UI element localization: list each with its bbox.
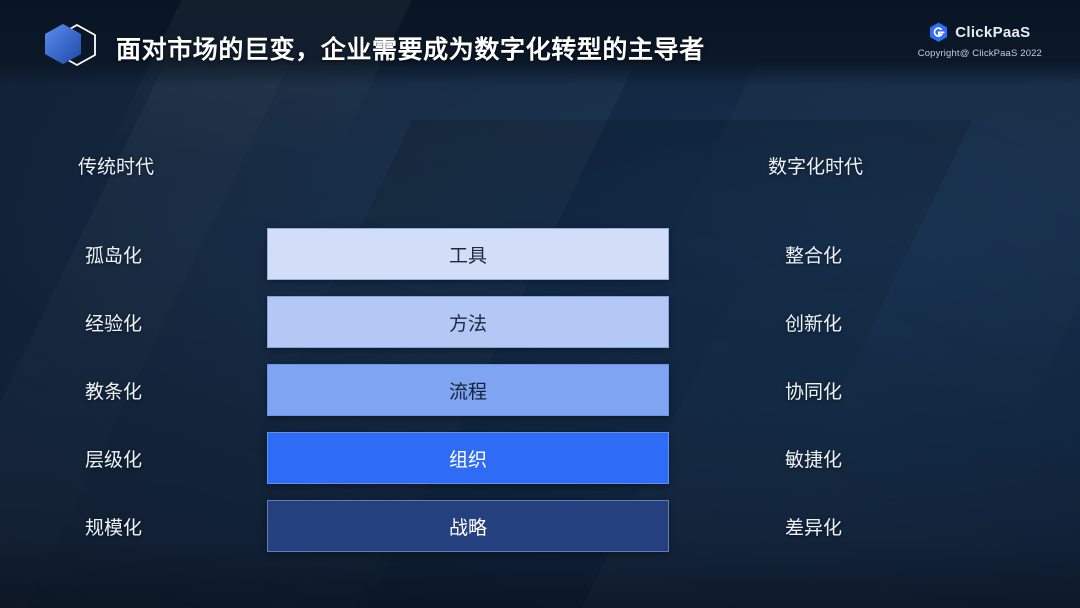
slide-canvas: 面对市场的巨变，企业需要成为数字化转型的主导者 ClickPaaS Copyri… (0, 0, 1080, 608)
traditional-label: 经验化 (85, 296, 142, 348)
slide-header: 面对市场的巨变，企业需要成为数字化转型的主导者 ClickPaaS Copyri… (0, 0, 1080, 86)
digital-label: 整合化 (785, 228, 842, 280)
traditional-label: 层级化 (85, 432, 142, 484)
digital-label: 创新化 (785, 296, 842, 348)
column-heading-digital: 数字化时代 (768, 152, 863, 179)
capability-bar[interactable]: 流程 (267, 364, 669, 416)
digital-label: 协同化 (785, 364, 842, 416)
page-title: 面对市场的巨变，企业需要成为数字化转型的主导者 (116, 30, 705, 66)
capability-bar[interactable]: 战略 (267, 500, 669, 552)
clickpaas-hexagon-icon (929, 22, 948, 43)
comparison-rows: 孤岛化工具整合化经验化方法创新化教条化流程协同化层级化组织敏捷化规模化战略差异化 (0, 228, 1080, 568)
digital-label: 敏捷化 (785, 432, 842, 484)
hexagon-logo-icon (44, 20, 100, 68)
comparison-row: 教条化流程协同化 (0, 364, 1080, 416)
copyright-text: Copyright@ ClickPaaS 2022 (918, 48, 1042, 59)
comparison-row: 孤岛化工具整合化 (0, 228, 1080, 280)
capability-bar[interactable]: 工具 (267, 228, 669, 280)
traditional-label: 规模化 (85, 500, 142, 552)
traditional-label: 教条化 (85, 364, 142, 416)
comparison-row: 经验化方法创新化 (0, 296, 1080, 348)
comparison-row: 层级化组织敏捷化 (0, 432, 1080, 484)
traditional-label: 孤岛化 (85, 228, 142, 280)
capability-bar[interactable]: 方法 (267, 296, 669, 348)
capability-bar[interactable]: 组织 (267, 432, 669, 484)
brand-name: ClickPaaS (955, 24, 1030, 41)
header-facet (104, 0, 427, 160)
brand-block: ClickPaaS Copyright@ ClickPaaS 2022 (918, 22, 1042, 59)
comparison-row: 规模化战略差异化 (0, 500, 1080, 552)
digital-label: 差异化 (785, 500, 842, 552)
